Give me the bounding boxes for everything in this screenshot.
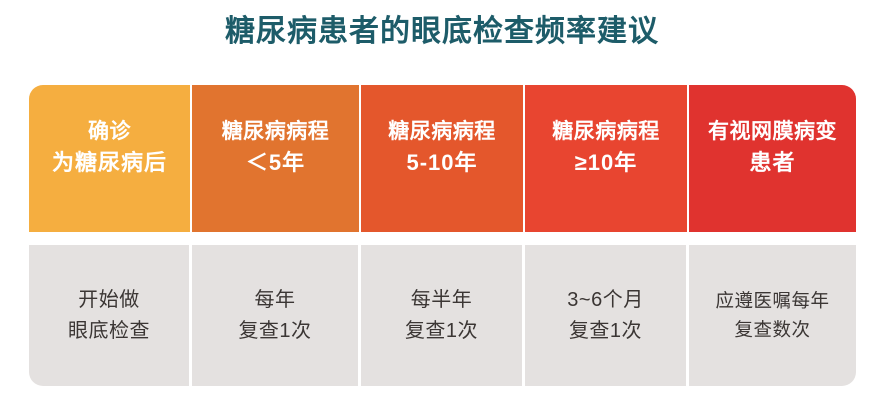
header-cell-line2: 5-10年 <box>406 147 477 178</box>
header-cell-line2: 为糖尿病后 <box>52 147 167 178</box>
body-cell-newly-diagnosed: 开始做 眼底检查 <box>29 245 192 386</box>
page-title: 糖尿病患者的眼底检查频率建议 <box>0 11 884 53</box>
body-cell-line2: 复查1次 <box>569 316 642 346</box>
body-cell-line2: 复查数次 <box>734 316 810 344</box>
header-cell-line2: 患者 <box>749 147 795 178</box>
header-cell-line2: ＜5年 <box>246 147 305 178</box>
header-cell-line1: 确诊 <box>88 117 131 147</box>
header-cell-with-retinopathy: 有视网膜病变 患者 <box>689 85 856 232</box>
table-header-row: 确诊 为糖尿病后 糖尿病病程 ＜5年 糖尿病病程 5-10年 糖尿病病程 ≥10… <box>29 85 856 232</box>
header-cell-duration-5-to-10-years: 糖尿病病程 5-10年 <box>361 85 525 232</box>
body-cell-line2: 复查1次 <box>405 316 478 346</box>
header-cell-line1: 糖尿病病程 <box>388 117 496 147</box>
header-cell-newly-diagnosed: 确诊 为糖尿病后 <box>29 85 192 232</box>
body-cell-line1: 每半年 <box>411 285 473 315</box>
body-cell-line1: 开始做 <box>78 285 140 315</box>
header-cell-duration-10-years-or-more: 糖尿病病程 ≥10年 <box>525 85 689 232</box>
body-cell-duration-10-years-or-more: 3~6个月 复查1次 <box>525 245 689 386</box>
header-cell-line1: 糖尿病病程 <box>222 117 330 147</box>
body-cell-line1: 应遵医嘱每年 <box>715 287 829 315</box>
body-cell-line2: 眼底检查 <box>68 316 150 346</box>
body-cell-line2: 复查1次 <box>238 316 311 346</box>
table-body-row: 开始做 眼底检查 每年 复查1次 每半年 复查1次 3~6个月 复查1次 应遵医… <box>29 245 856 386</box>
recommendation-table: 确诊 为糖尿病后 糖尿病病程 ＜5年 糖尿病病程 5-10年 糖尿病病程 ≥10… <box>29 85 856 386</box>
header-cell-line1: 有视网膜病变 <box>708 117 837 147</box>
header-cell-line2: ≥10年 <box>575 147 638 178</box>
body-cell-duration-under-5-years: 每年 复查1次 <box>192 245 361 386</box>
body-cell-line1: 3~6个月 <box>567 285 643 315</box>
body-cell-with-retinopathy: 应遵医嘱每年 复查数次 <box>689 245 856 386</box>
body-cell-duration-5-to-10-years: 每半年 复查1次 <box>361 245 525 386</box>
header-cell-duration-under-5-years: 糖尿病病程 ＜5年 <box>192 85 361 232</box>
header-cell-line1: 糖尿病病程 <box>552 117 660 147</box>
body-cell-line1: 每年 <box>255 285 296 315</box>
infographic-page: 糖尿病患者的眼底检查频率建议 确诊 为糖尿病后 糖尿病病程 ＜5年 糖尿病病程 … <box>0 0 884 413</box>
